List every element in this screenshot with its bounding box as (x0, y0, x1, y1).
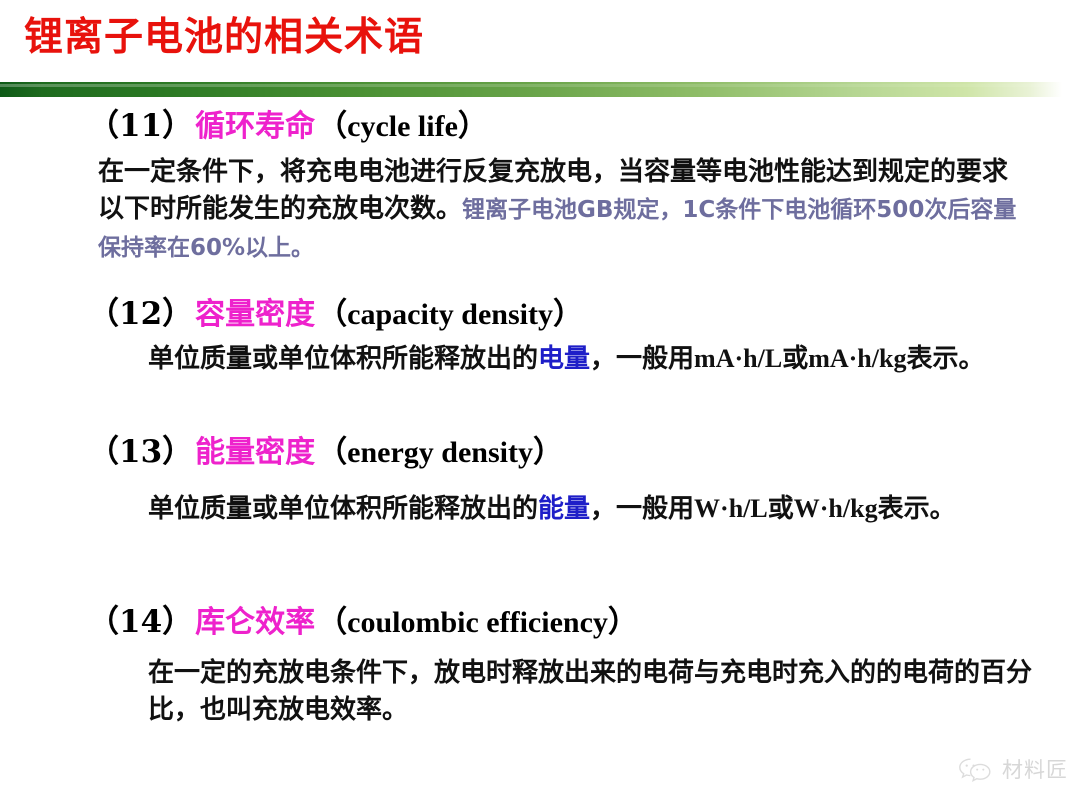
term-number: （13） (88, 434, 193, 470)
term-description-post: ，一般用 (590, 344, 694, 374)
term-description-main: 在一定的充放电条件下，放电时释放出来的电荷与充电时充入的的电荷的百分比，也叫充放… (148, 658, 1032, 725)
wechat-icon (956, 756, 996, 782)
term-heading: （12）容量密度（capacity density） (88, 292, 1048, 337)
term-name-cn: 容量密度 (193, 297, 317, 332)
term-description: 在一定条件下，将充电电池进行反复充放电，当容量等电池性能达到规定的要求以下时所能… (98, 154, 1028, 267)
term-entry-capacity-density: （12）容量密度（capacity density） 单位质量或单位体积所能释放… (88, 292, 1048, 337)
term-description-post: ，一般用 (590, 494, 694, 524)
term-heading: （13）能量密度（energy density） (88, 430, 1048, 475)
term-description-unit-1: mA·h/L (694, 344, 782, 373)
term-entry-coulombic-efficiency: （14）库仑效率（coulombic efficiency） 在一定的充放电条件… (88, 600, 1068, 645)
term-heading: （11）循环寿命（cycle life） (88, 104, 1048, 149)
term-name-en: （capacity density） (317, 298, 583, 331)
term-name-en: （coulombic efficiency） (317, 606, 638, 639)
watermark-label: 材料匠 (1002, 754, 1068, 784)
term-heading: （14）库仑效率（coulombic efficiency） (88, 600, 1068, 645)
term-description-unit-2: mA·h/kg (808, 344, 906, 373)
term-number: （12） (88, 296, 193, 332)
term-description-unit-1: W·h/L (694, 494, 768, 523)
term-description: 在一定的充放电条件下，放电时释放出来的电荷与充电时充入的的电荷的百分比，也叫充放… (148, 655, 1048, 729)
term-name-en: （energy density） (317, 436, 563, 469)
term-description-pre: 单位质量或单位体积所能释放出的 (148, 344, 538, 374)
term-description-end: 表示。 (878, 494, 956, 524)
term-number: （11） (88, 108, 193, 144)
term-description: 单位质量或单位体积所能释放出的能量，一般用W·h/L或W·h/kg表示。 (148, 490, 1053, 528)
term-number: （14） (88, 604, 193, 640)
term-description: 单位质量或单位体积所能释放出的电量，一般用mA·h/L或mA·h/kg表示。 (148, 340, 1048, 378)
term-name-cn: 库仑效率 (193, 605, 317, 640)
term-name-en: （cycle life） (317, 110, 488, 143)
term-description-end: 表示。 (906, 344, 984, 374)
term-description-pre: 单位质量或单位体积所能释放出的 (148, 494, 538, 524)
watermark: 材料匠 (956, 754, 1068, 784)
term-name-cn: 循环寿命 (193, 109, 317, 144)
term-description-mid: 或 (782, 344, 808, 374)
term-description-highlight: 能量 (538, 494, 590, 524)
term-description-unit-2: W·h/kg (794, 494, 878, 523)
term-description-mid: 或 (768, 494, 794, 524)
title-divider-rule (0, 82, 1062, 97)
term-name-cn: 能量密度 (193, 435, 317, 470)
page-title: 锂离子电池的相关术语 (24, 8, 424, 68)
term-description-highlight: 电量 (538, 344, 590, 374)
term-entry-energy-density: （13）能量密度（energy density） 单位质量或单位体积所能释放出的… (88, 430, 1048, 475)
term-entry-cycle-life: （11）循环寿命（cycle life） 在一定条件下，将充电电池进行反复充放电… (88, 104, 1048, 149)
